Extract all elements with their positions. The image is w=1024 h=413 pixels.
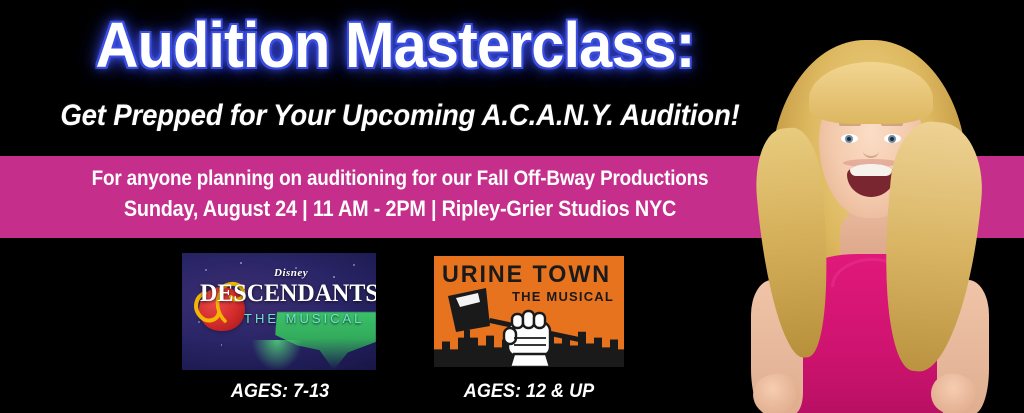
page-subtitle: Get Prepped for Your Upcoming A.C.A.N.Y.… [32,99,768,133]
nose [863,144,879,158]
promo-banner: Audition Masterclass: Get Prepped for Yo… [0,0,1024,413]
descendants-subtitle: THE MUSICAL [244,311,364,326]
poster-descendants[interactable]: Disney DESCENDANTS THE MUSICAL [182,253,376,370]
green-slime-drip [252,340,302,370]
band-line-datetime-venue: Sunday, August 24 | 11 AM - 2PM | Ripley… [40,194,760,224]
band-line-audience: For anyone planning on auditioning for o… [40,164,760,194]
urinetown-subtitle: THE MUSICAL [512,289,614,304]
descendants-title: DESCENDANTS [200,281,365,307]
singer-photo [735,18,1005,413]
poster-urinetown[interactable]: URINE TOWN THE MUSICAL [434,256,624,367]
urinetown-title: URINE TOWN [442,262,619,287]
band-text-block: For anyone planning on auditioning for o… [40,164,760,224]
page-title: Audition Masterclass: [28,12,763,78]
age-label-urinetown: AGES: 12 & UP [437,381,621,403]
disney-brand-logo: Disney [274,267,308,279]
age-label-descendants: AGES: 7-13 [188,381,372,403]
